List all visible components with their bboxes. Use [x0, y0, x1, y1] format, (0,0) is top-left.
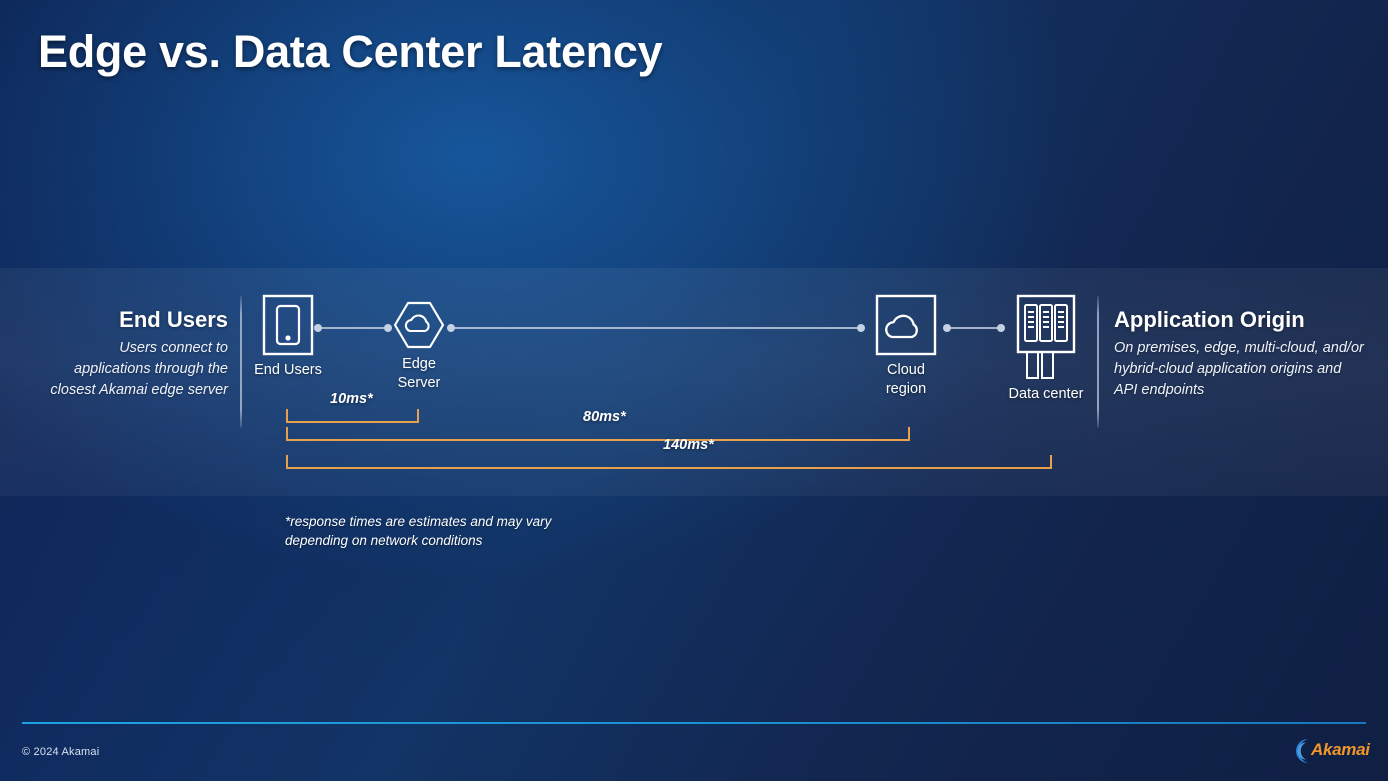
node-edge-server-label: Edge Server	[398, 356, 441, 391]
copyright-text: © 2024 Akamai	[22, 746, 99, 758]
latency-bracket-80ms: 80ms*	[286, 425, 910, 441]
panel-end-users: End Users Users connect to applications …	[40, 308, 228, 401]
page-title: Edge vs. Data Center Latency	[38, 26, 662, 78]
server-rack-icon	[995, 294, 1097, 385]
panel-end-users-body: Users connect to applications through th…	[40, 338, 228, 401]
latency-bracket-10ms: 10ms*	[286, 407, 419, 423]
node-end-users[interactable]: End Users	[238, 294, 338, 380]
bracket-bar	[286, 421, 419, 423]
footer-rule	[22, 722, 1366, 724]
node-end-users-label: End Users	[254, 362, 322, 378]
slide-canvas: Edge vs. Data Center Latency End Users U…	[0, 0, 1388, 781]
cloud-box-icon	[858, 294, 954, 361]
mobile-phone-icon	[238, 294, 338, 361]
connector-line	[452, 327, 860, 329]
latency-bracket-140ms-label: 140ms*	[663, 437, 714, 453]
bracket-tick-right	[908, 427, 910, 441]
bracket-tick-right	[1050, 455, 1052, 469]
divider-right	[1097, 296, 1099, 428]
bracket-bar	[286, 439, 910, 441]
akamai-wordmark: Akamai	[1311, 740, 1370, 760]
hexagon-cloud-icon	[378, 300, 460, 355]
footnote: *response times are estimates and may va…	[285, 513, 625, 551]
latency-bracket-10ms-label: 10ms*	[330, 391, 373, 407]
akamai-logo: Akamai	[1286, 736, 1372, 766]
bracket-bar	[286, 467, 1052, 469]
latency-bracket-140ms: 140ms*	[286, 453, 1052, 469]
node-cloud-region[interactable]: Cloud region	[858, 294, 954, 398]
panel-application-origin: Application Origin On premises, edge, mu…	[1114, 308, 1364, 401]
connector-edge-to-cloud	[447, 323, 865, 333]
node-cloud-region-label: Cloud region	[886, 362, 926, 397]
panel-application-origin-body: On premises, edge, multi-cloud, and/or h…	[1114, 338, 1364, 401]
connector-line	[948, 327, 1000, 329]
node-edge-server[interactable]: Edge Server	[378, 300, 460, 392]
panel-application-origin-heading: Application Origin	[1114, 308, 1364, 332]
panel-end-users-heading: End Users	[40, 308, 228, 332]
latency-bracket-80ms-label: 80ms*	[583, 409, 626, 425]
node-data-center[interactable]: Data center	[995, 294, 1097, 404]
bracket-tick-right	[417, 409, 419, 423]
node-data-center-label: Data center	[1009, 386, 1084, 402]
